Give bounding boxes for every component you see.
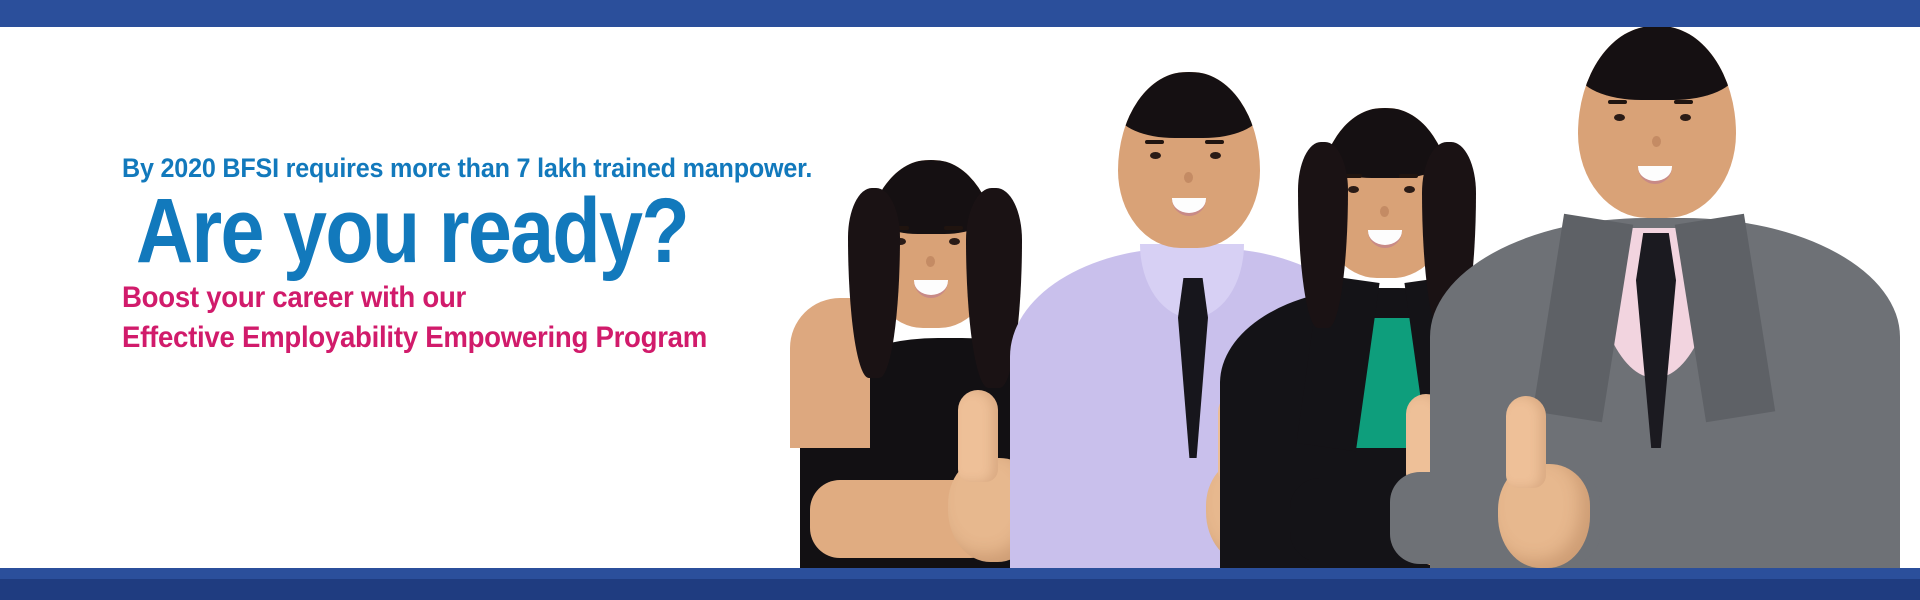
kicker-text: By 2020 BFSI requires more than 7 lakh t… <box>122 155 847 182</box>
page-title: Are you ready? <box>136 188 795 275</box>
eyebrow-right <box>1674 100 1693 104</box>
nose <box>1652 136 1661 147</box>
nose <box>1380 206 1389 217</box>
smile <box>1638 166 1672 184</box>
hair <box>1578 27 1736 100</box>
banner-copy: By 2020 BFSI requires more than 7 lakh t… <box>122 155 902 357</box>
person-man-grey-suit <box>1390 27 1920 568</box>
eye-right <box>1680 114 1691 121</box>
promotional-banner: By 2020 BFSI requires more than 7 lakh t… <box>0 0 1920 600</box>
smile <box>914 280 948 298</box>
nose <box>926 256 935 267</box>
eye-right <box>949 238 960 245</box>
eye-left <box>1614 114 1625 121</box>
eye-left <box>1348 186 1359 193</box>
bottom-accent-bar-light <box>0 568 1920 579</box>
eyebrow-left <box>1608 100 1627 104</box>
eyebrow-right <box>944 226 963 230</box>
bottom-accent-bar-dark <box>0 579 1920 600</box>
thumb-up <box>1506 396 1546 488</box>
top-accent-bar <box>0 0 1920 27</box>
eye-left <box>1150 152 1161 159</box>
eyebrow-left <box>1145 140 1164 144</box>
subline-first: Boost your career with our <box>122 279 840 317</box>
subline-second: Effective Employability Empowering Progr… <box>122 319 840 357</box>
head <box>1578 27 1736 218</box>
people-photo-montage <box>770 27 1920 568</box>
